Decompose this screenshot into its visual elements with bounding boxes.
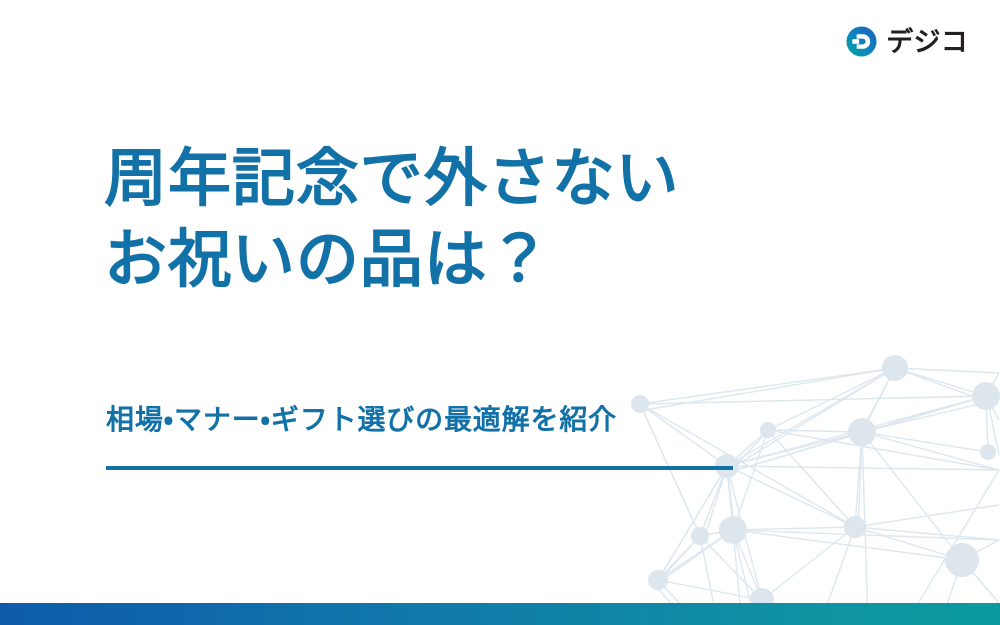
brand-wordmark: デジコ (886, 29, 968, 56)
subtitle-block: 相場・マナー・ギフト選びの最適解を紹介 (106, 402, 746, 470)
page-title-line-1: 周年記念で外さない (104, 147, 904, 212)
page-title: 周年記念で外さない お祝いの品は？ (104, 147, 904, 293)
slide-canvas: デジコ 周年記念で外さない お祝いの品は？ 相場・マナー・ギフト選びの最適解を紹… (0, 0, 1000, 625)
network-nodes (631, 355, 1000, 612)
digico-circle-logo-icon (846, 26, 877, 57)
subtitle-divider (106, 466, 733, 470)
page-subtitle: 相場・マナー・ギフト選びの最適解を紹介 (106, 402, 746, 437)
page-title-line-2: お祝いの品は？ (104, 228, 904, 293)
brand-logo[interactable]: デジコ (846, 24, 968, 58)
bottom-accent-bar (0, 603, 1000, 625)
network-decoration-graphic (0, 0, 1000, 625)
